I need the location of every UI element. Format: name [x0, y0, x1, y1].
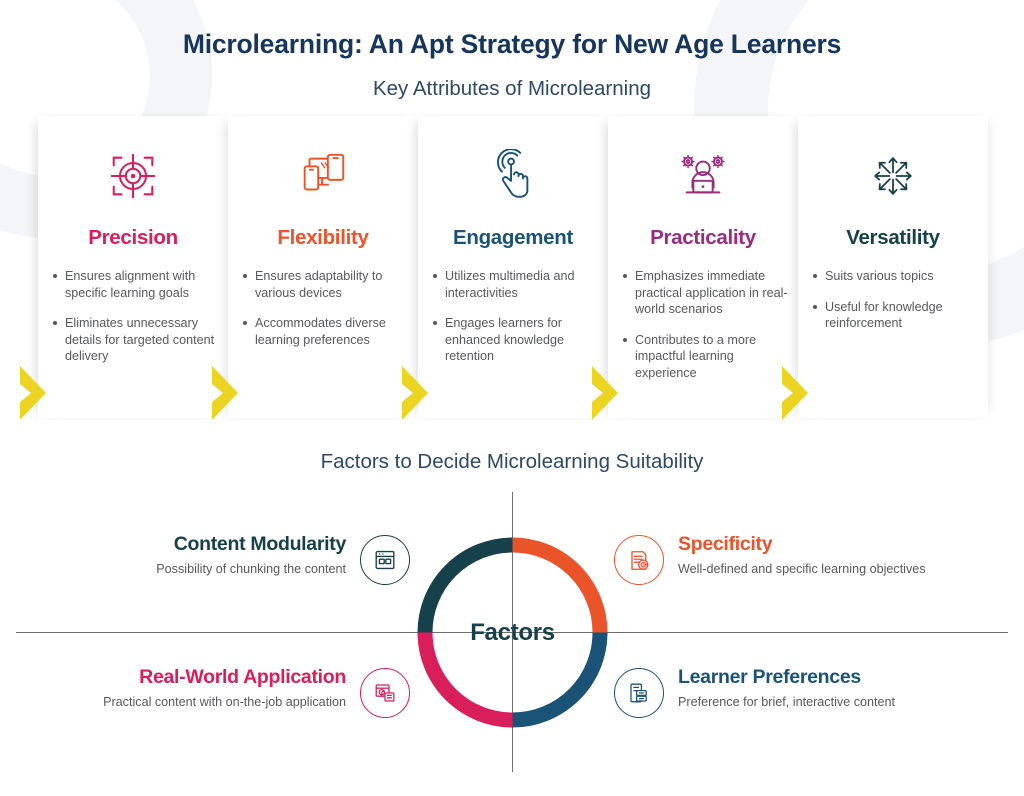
factor-name: Real-World Application: [80, 666, 346, 689]
document-target-icon: [614, 535, 664, 585]
infographic-page: Microlearning: An Apt Strategy for New A…: [0, 0, 1024, 796]
chevron-right-arrow: [18, 364, 52, 422]
stacked-documents-icon: [614, 668, 664, 718]
factor-text-block: Learner Preferences Preference for brief…: [664, 666, 954, 710]
factor-item-specificity[interactable]: Specificity Well-defined and specific le…: [614, 533, 954, 585]
person-laptop-gears-icon: [608, 146, 798, 206]
attribute-title: Versatility: [798, 226, 988, 250]
donut-center-label: Factors: [417, 619, 608, 647]
factor-name: Specificity: [678, 533, 954, 556]
attribute-card-engagement[interactable]: Engagement Utilizes multimedia and inter…: [418, 116, 608, 418]
target-crosshair-icon: [38, 146, 228, 206]
factors-donut-chart: Factors: [417, 537, 608, 728]
page-subtitle: Key Attributes of Microlearning: [0, 77, 1024, 101]
factor-item-learner-preferences[interactable]: Learner Preferences Preference for brief…: [614, 666, 954, 718]
list-item: Eliminates unnecessary details for targe…: [52, 315, 220, 365]
chevron-right-arrow: [590, 364, 624, 422]
list-item: Contributes to a more impactful learning…: [622, 332, 790, 382]
factor-text-block: Content Modularity Possibility of chunki…: [110, 533, 360, 577]
factor-description: Preference for brief, interactive conten…: [678, 695, 954, 710]
factor-item-real-world-application[interactable]: Real-World Application Practical content…: [80, 666, 410, 718]
factor-text-block: Real-World Application Practical content…: [80, 666, 360, 710]
attribute-bullet-list: Ensures adaptability to various devices …: [242, 268, 410, 362]
tap-hand-icon: [418, 146, 608, 206]
list-item: Engages learners for enhanced knowledge …: [432, 315, 600, 365]
list-item: Suits various topics: [812, 268, 980, 285]
list-item: Emphasizes immediate practical applicati…: [622, 268, 790, 318]
factor-item-content-modularity[interactable]: Content Modularity Possibility of chunki…: [110, 533, 410, 585]
attribute-bullet-list: Suits various topics Useful for knowledg…: [812, 268, 980, 346]
attribute-card-strip: Precision Ensures alignment with specifi…: [38, 116, 988, 418]
factor-description: Well-defined and specific learning objec…: [678, 562, 954, 577]
attribute-card-flexibility[interactable]: Flexibility Ensures adaptability to vari…: [228, 116, 418, 418]
list-item: Useful for knowledge reinforcement: [812, 299, 980, 332]
factor-text-block: Specificity Well-defined and specific le…: [664, 533, 954, 577]
attribute-title: Engagement: [418, 226, 608, 250]
multi-device-icon: [228, 146, 418, 206]
attribute-title: Practicality: [608, 226, 798, 250]
attribute-card-practicality[interactable]: Practicality Emphasizes immediate practi…: [608, 116, 798, 418]
expand-arrows-icon: [798, 146, 988, 206]
list-item: Ensures adaptability to various devices: [242, 268, 410, 301]
attribute-bullet-list: Ensures alignment with specific learning…: [52, 268, 220, 379]
presentation-chart-icon: [360, 668, 410, 718]
factor-name: Content Modularity: [110, 533, 346, 556]
chevron-right-arrow: [400, 364, 434, 422]
list-item: Utilizes multimedia and interactivities: [432, 268, 600, 301]
factor-name: Learner Preferences: [678, 666, 954, 689]
grid-layout-icon: [360, 535, 410, 585]
attribute-bullet-list: Emphasizes immediate practical applicati…: [622, 268, 790, 395]
attribute-title: Flexibility: [228, 226, 418, 250]
factor-description: Practical content with on-the-job applic…: [80, 695, 346, 710]
list-item: Accommodates diverse learning preference…: [242, 315, 410, 348]
attribute-card-precision[interactable]: Precision Ensures alignment with specifi…: [38, 116, 228, 418]
list-item: Ensures alignment with specific learning…: [52, 268, 220, 301]
factors-section-title: Factors to Decide Microlearning Suitabil…: [0, 450, 1024, 474]
factor-description: Possibility of chunking the content: [110, 562, 346, 577]
chevron-right-arrow: [210, 364, 244, 422]
attribute-bullet-list: Utilizes multimedia and interactivities …: [432, 268, 600, 379]
chevron-right-arrow: [780, 364, 814, 422]
attribute-title: Precision: [38, 226, 228, 250]
page-title: Microlearning: An Apt Strategy for New A…: [0, 29, 1024, 60]
attribute-card-versatility[interactable]: Versatility Suits various topics Useful …: [798, 116, 988, 418]
